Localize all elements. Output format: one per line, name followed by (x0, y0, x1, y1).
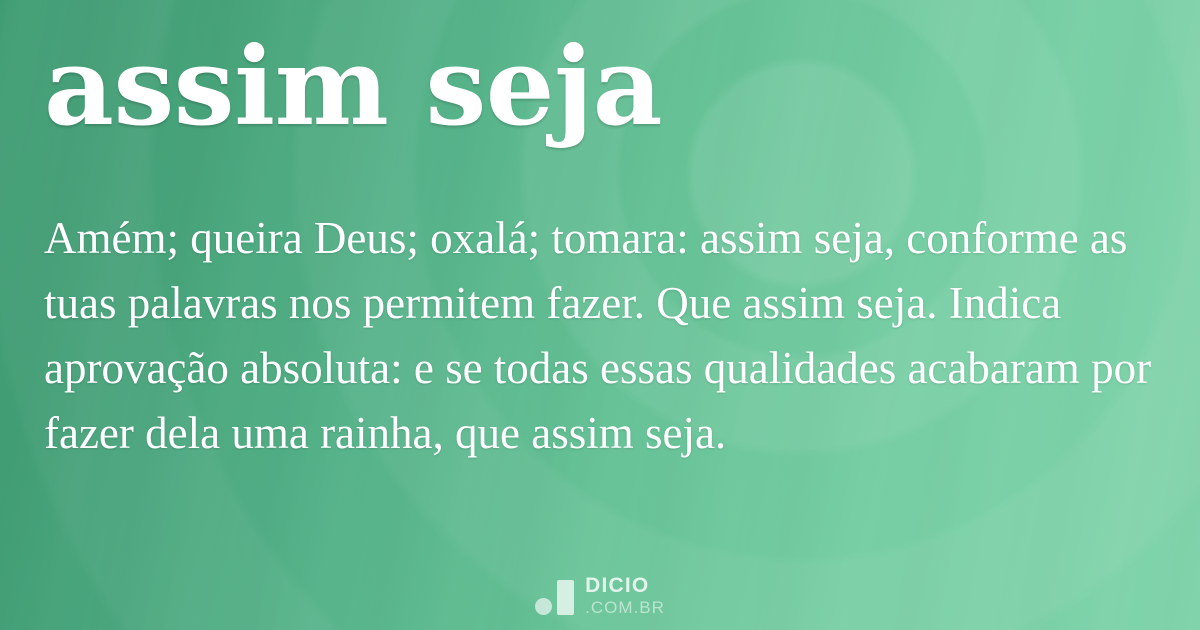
card-content: assim seja Amém; queira Deus; oxalá; tom… (0, 0, 1200, 630)
brand-tld: .COM.BR (585, 599, 665, 616)
logo-wordmark: DICIO .COM.BR (585, 575, 665, 616)
dictionary-card: assim seja Amém; queira Deus; oxalá; tom… (0, 0, 1200, 630)
circle-icon (535, 598, 552, 615)
definition-text: Amém; queira Deus; oxalá; tomara: assim … (44, 206, 1159, 466)
page-title: assim seja (44, 24, 662, 151)
brand-logo[interactable]: DICIO .COM.BR (0, 575, 1200, 616)
rounded-bar-icon (557, 580, 574, 615)
logo-mark (535, 577, 574, 615)
brand-name: DICIO (585, 575, 665, 596)
